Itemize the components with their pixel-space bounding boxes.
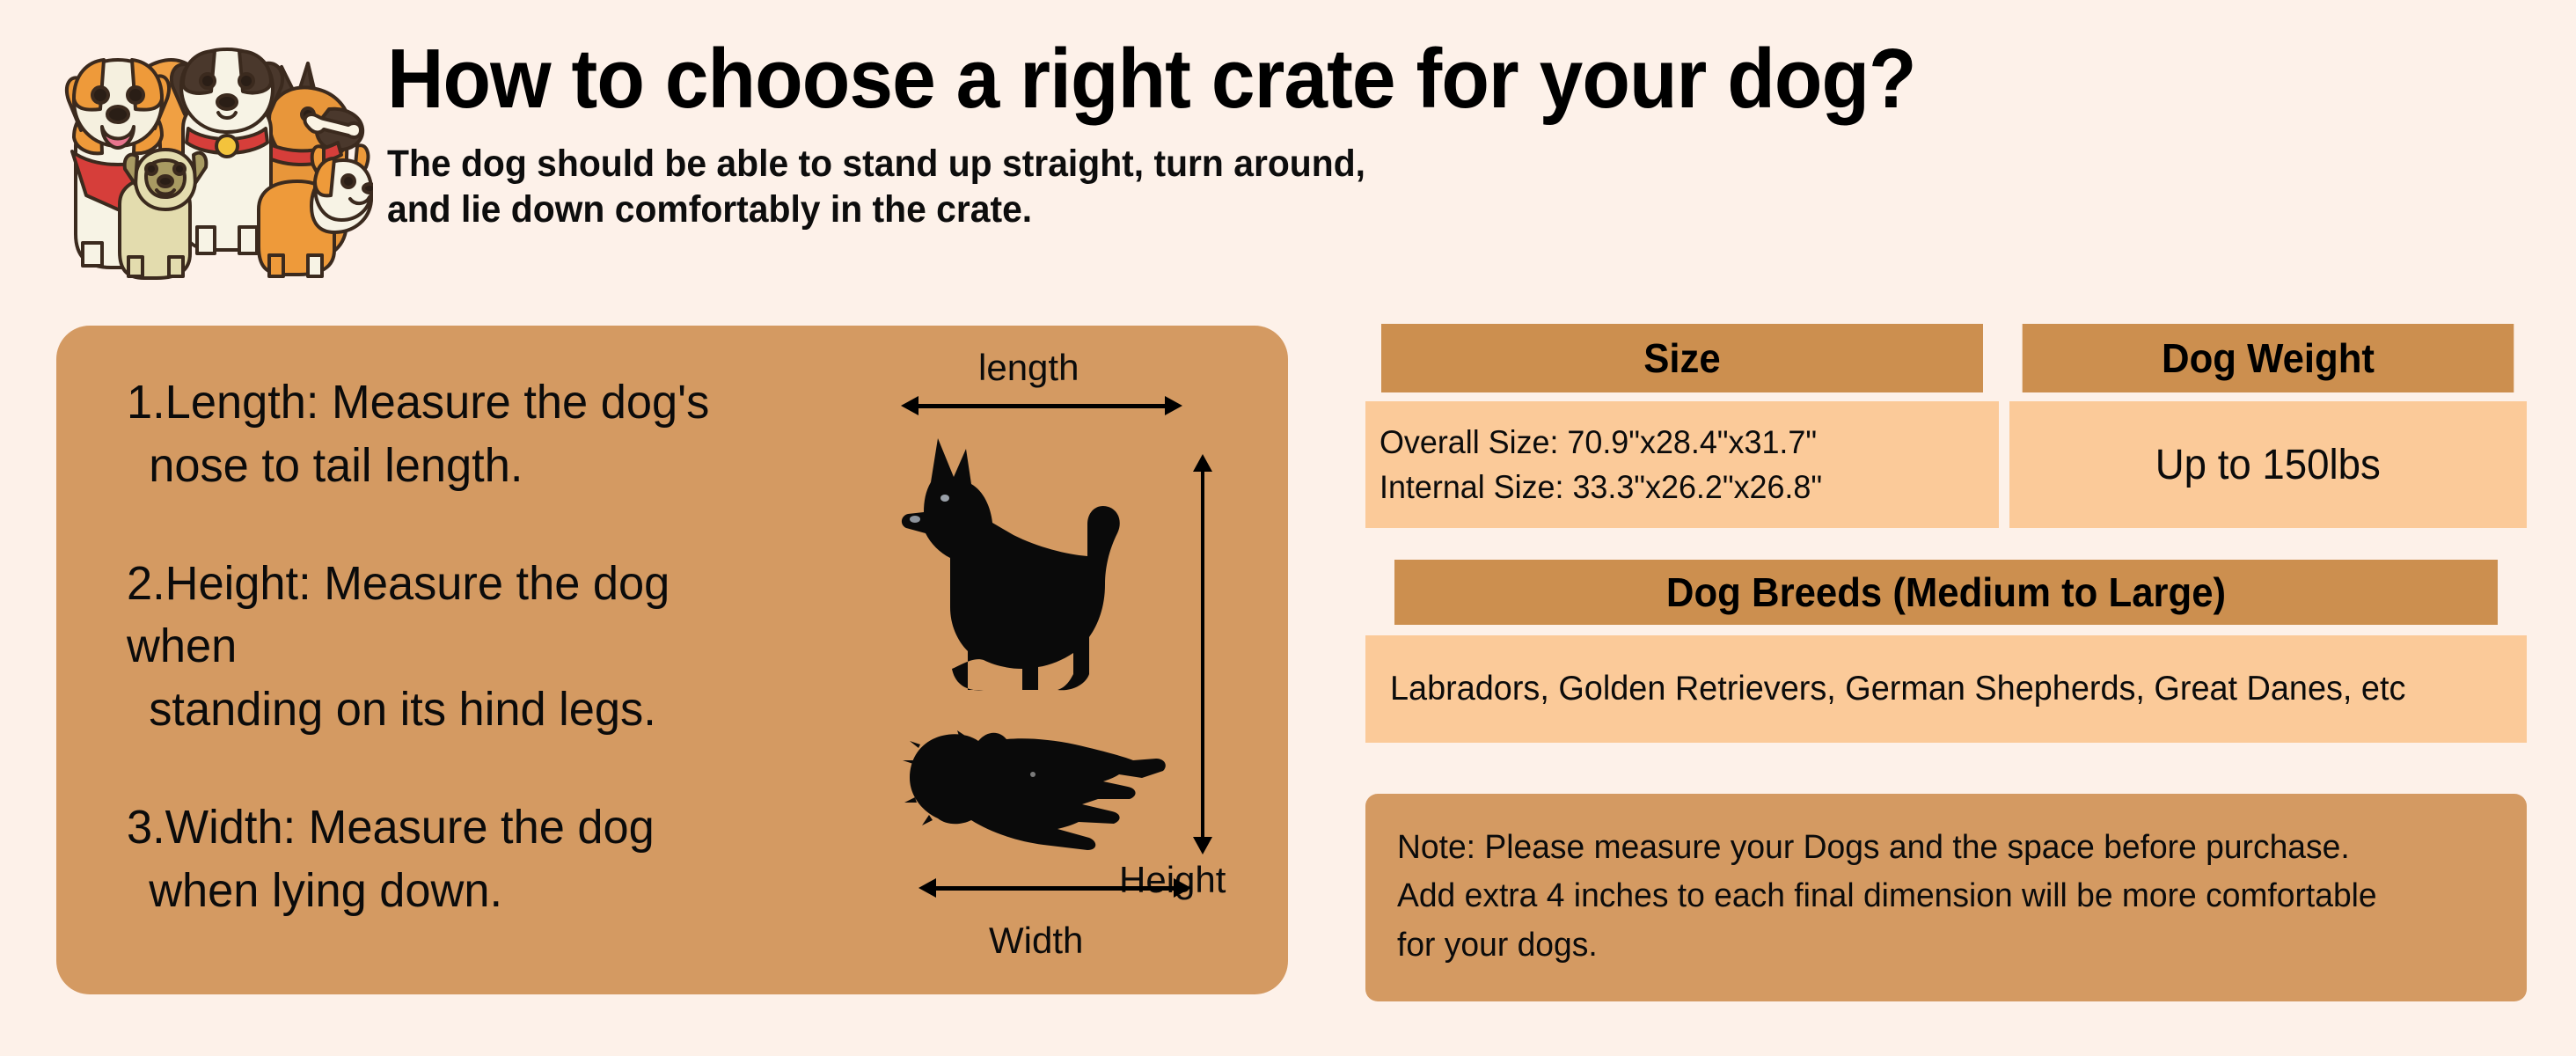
subtitle-line-1: The dog should be able to stand up strai… — [387, 141, 2443, 187]
weight-value: Up to 150lbs — [2155, 441, 2381, 489]
weight-column: Dog Weight Up to 150lbs — [2009, 324, 2527, 528]
length-label: length — [978, 347, 1079, 389]
note-line-2: Add extra 4 inches to each final dimensi… — [1397, 872, 2473, 920]
steps-list: 1.Length: Measure the dog's nose to tail… — [127, 371, 743, 923]
length-arrow-icon — [901, 396, 1182, 415]
note-line-1: Note: Please measure your Dogs and the s… — [1397, 824, 2473, 872]
title-block: How to choose a right crate for your dog… — [387, 37, 2551, 233]
page-title: How to choose a right crate for your dog… — [387, 37, 2400, 121]
weight-cell: Up to 150lbs — [2009, 401, 2527, 528]
width-arrow-icon — [918, 878, 1191, 898]
measurement-diagram: length Height Width — [883, 341, 1279, 984]
dog-group-illustration — [51, 23, 373, 304]
specs-area: Size Overall Size: 70.9"x28.4"x31.7" Int… — [1365, 324, 2527, 1001]
specs-row: Size Overall Size: 70.9"x28.4"x31.7" Int… — [1365, 324, 2527, 528]
step-height-head: 2.Height: Measure the dog when — [127, 557, 670, 673]
step-width-head: 3.Width: Measure the dog — [127, 801, 655, 854]
width-label: Width — [989, 920, 1083, 962]
subtitle-line-2: and lie down comfortably in the crate. — [387, 187, 2443, 232]
dog-breeds-header: Dog Breeds (Medium to Large) — [1394, 560, 2498, 625]
breeds-cell: Labradors, Golden Retrievers, German She… — [1365, 635, 2527, 743]
step-item-width: 3.Width: Measure the dog when lying down… — [127, 796, 724, 923]
step-length-cont: nose to tail length. — [127, 435, 724, 498]
lying-dog-silhouette — [903, 729, 1175, 887]
note-box: Note: Please measure your Dogs and the s… — [1365, 794, 2527, 1001]
dog-weight-header: Dog Weight — [2023, 324, 2514, 392]
breeds-value: Labradors, Golden Retrievers, German She… — [1390, 670, 2405, 708]
subtitle: The dog should be able to stand up strai… — [387, 141, 2551, 233]
height-arrow-icon — [1193, 454, 1212, 854]
size-header: Size — [1381, 324, 1983, 392]
breeds-block: Dog Breeds (Medium to Large) Labradors, … — [1365, 560, 2527, 743]
step-item-height: 2.Height: Measure the dog when standing … — [127, 553, 724, 742]
step-width-cont: when lying down. — [127, 860, 724, 923]
measurement-instructions-panel: 1.Length: Measure the dog's nose to tail… — [56, 326, 1288, 994]
step-height-cont: standing on its hind legs. — [127, 678, 724, 742]
step-item-length: 1.Length: Measure the dog's nose to tail… — [127, 371, 724, 498]
header: How to choose a right crate for your dog… — [0, 0, 2576, 308]
step-length-head: 1.Length: Measure the dog's — [127, 376, 709, 429]
size-column: Size Overall Size: 70.9"x28.4"x31.7" Int… — [1365, 324, 1999, 528]
standing-dog-silhouette — [899, 426, 1181, 716]
size-cell: Overall Size: 70.9"x28.4"x31.7" Internal… — [1365, 401, 1999, 528]
note-line-3: for your dogs. — [1397, 921, 2473, 970]
overall-size-line: Overall Size: 70.9"x28.4"x31.7" — [1379, 420, 1817, 465]
internal-size-line: Internal Size: 33.3"x26.2"x26.8" — [1379, 465, 1822, 510]
